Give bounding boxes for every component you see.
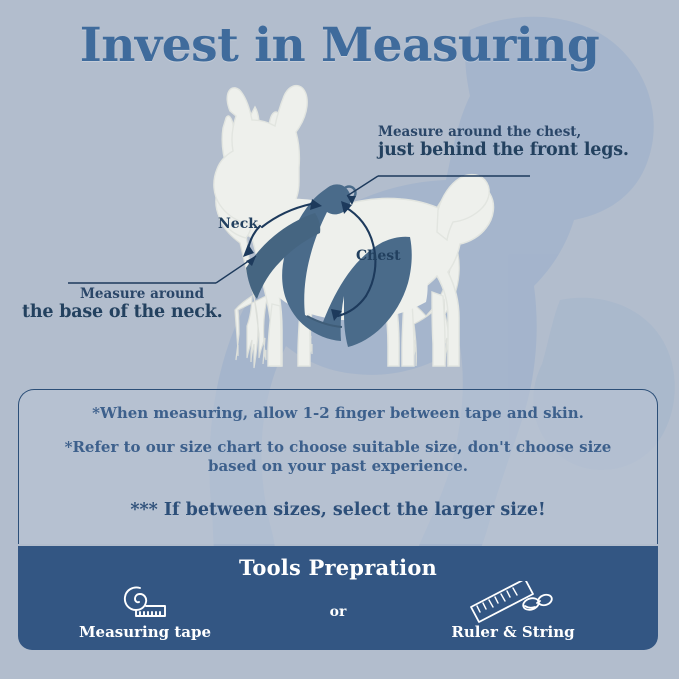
tools-title: Tools Prepration (18, 546, 658, 580)
measuring-tape-icon (40, 582, 250, 622)
chest-annotation: Measure around the chest, just behind th… (378, 124, 629, 161)
measuring-tape-label: Measuring tape (40, 623, 250, 641)
tool-ruler-string: Ruler & String (408, 582, 618, 641)
tip-line-3: *** If between sizes, select the larger … (49, 499, 627, 522)
tip-line-2: *Refer to our size chart to choose suita… (49, 438, 627, 477)
neck-annotation: Measure around the base of the neck. (22, 286, 262, 323)
tools-separator: or (330, 604, 347, 620)
ruler-string-icon (408, 582, 618, 622)
tools-row: Measuring tape or (18, 582, 658, 646)
chest-annotation-line2: just behind the front legs. (378, 140, 629, 161)
ruler-string-label: Ruler & String (408, 623, 618, 641)
infographic-canvas: Invest in Measuring (0, 0, 679, 679)
neck-annotation-line1: Measure around (22, 286, 262, 302)
neck-annotation-line2: the base of the neck. (22, 302, 262, 323)
tools-preparation-panel: Tools Prepration Measuring tape or (18, 546, 658, 650)
measuring-tips-box: *When measuring, allow 1-2 finger betwee… (18, 389, 658, 544)
label-chest: Chest (356, 248, 401, 264)
tip-line-1: *When measuring, allow 1-2 finger betwee… (49, 404, 627, 424)
label-neck: Neck (218, 216, 258, 232)
chest-annotation-line1: Measure around the chest, (378, 124, 629, 140)
page-title: Invest in Measuring (0, 22, 679, 69)
tool-measuring-tape: Measuring tape (40, 582, 250, 641)
title-container: Invest in Measuring (0, 22, 679, 69)
